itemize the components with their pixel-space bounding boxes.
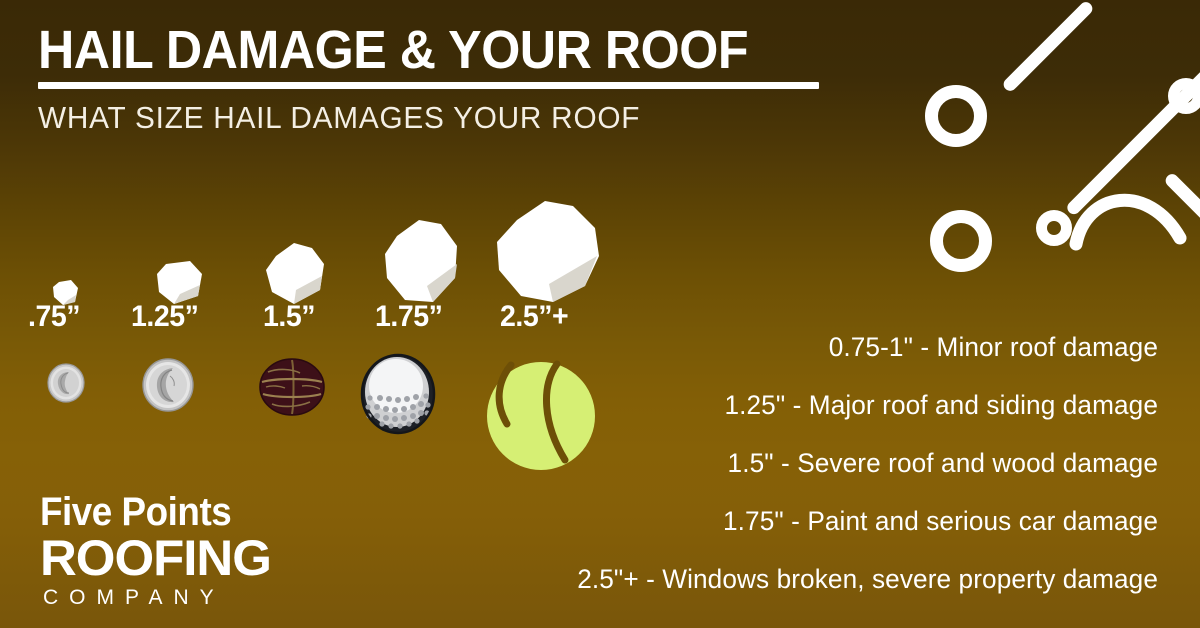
walnut-icon [258, 356, 326, 418]
hail-size-label: .75” [28, 300, 80, 334]
logo-line-roofing: ROOFING [40, 534, 366, 582]
hailstone-row [0, 180, 640, 310]
title-underline-rule [38, 82, 819, 89]
logo-line-five-points: Five Points [40, 492, 334, 532]
hailstone-item [489, 198, 609, 310]
decorative-ring [930, 210, 992, 272]
hail-size-label: 1.75” [375, 300, 442, 334]
infographic-canvas: HAIL DAMAGE & YOUR ROOF WHAT SIZE HAIL D… [0, 0, 1200, 628]
hail-size-label: 1.5” [263, 300, 315, 334]
page-title: HAIL DAMAGE & YOUR ROOF [38, 22, 748, 78]
decorative-ring [925, 85, 987, 147]
page-subtitle: WHAT SIZE HAIL DAMAGES YOUR ROOF [38, 100, 640, 136]
damage-list-item: 0.75-1" - Minor roof damage [421, 332, 1158, 362]
hailstone-item [375, 216, 469, 310]
decorative-diagonal-line [1001, 0, 1095, 94]
damage-list-item: 1.75" - Paint and serious car damage [421, 506, 1158, 536]
hailstone-icon [375, 216, 469, 310]
damage-description-list: 0.75-1" - Minor roof damage 1.25" - Majo… [398, 332, 1158, 594]
logo-line-company: COMPANY [43, 586, 360, 610]
hail-size-label: 2.5”+ [500, 300, 568, 334]
quarter-coin-icon [46, 362, 86, 404]
decorative-arc [1068, 172, 1198, 252]
decorative-diagonal-line [1065, 66, 1200, 217]
decorative-ring [1168, 78, 1200, 114]
decorative-diagonal-line [1163, 171, 1200, 265]
company-logo[interactable]: Five Points ROOFING COMPANY [40, 492, 360, 610]
half-dollar-coin-icon [140, 356, 196, 414]
hailstone-icon [489, 198, 609, 310]
damage-list-item: 1.25" - Major roof and siding damage [421, 390, 1158, 420]
damage-list-item: 1.5" - Severe roof and wood damage [421, 448, 1158, 478]
damage-list-item: 2.5"+ - Windows broken, severe property … [421, 564, 1158, 594]
decorative-ring [1036, 210, 1072, 246]
hail-size-label: 1.25” [131, 300, 198, 334]
